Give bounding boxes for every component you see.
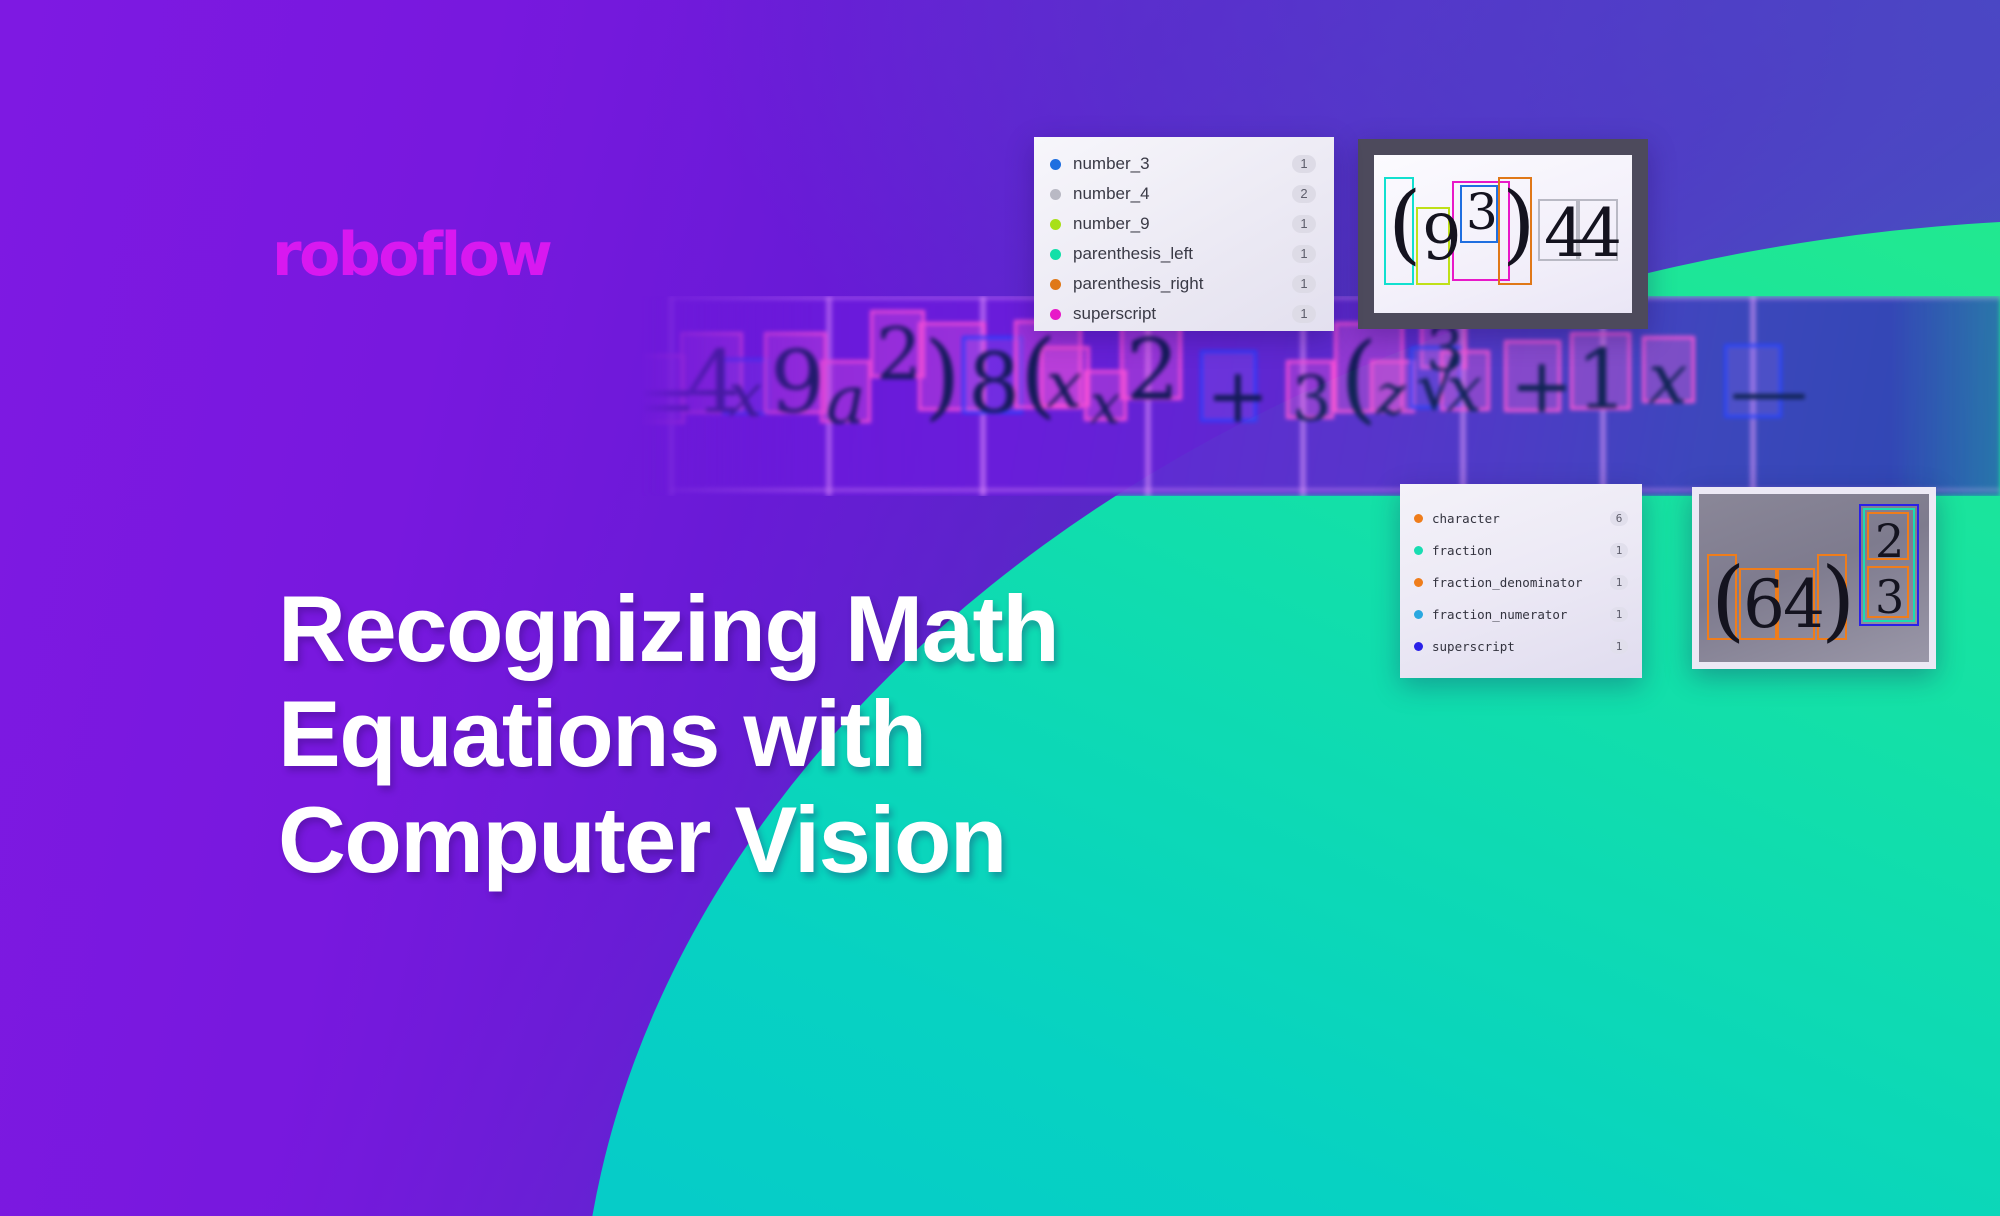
equation-band-glyph: 8 [968,344,1020,426]
equation-glyph: ( [1388,181,1422,267]
class-color-dot-icon [1050,219,1061,230]
equation-glyph: 6 [1743,572,1785,638]
equation-band-glyph: 1 [1576,340,1628,422]
class-color-dot-icon [1050,249,1061,260]
equation-band-glyph: 3 [1292,368,1331,430]
equation-glyph: 9 [1422,207,1461,269]
equation-band-glyph: + [1206,358,1270,434]
hero-banner: =4x9a2)8(xx2+3(z3√x+1x— roboflow Recogni… [0,0,2000,1216]
legend-row[interactable]: number_31 [1034,149,1334,179]
legend-row[interactable]: number_42 [1034,179,1334,209]
class-label: fraction_denominator [1432,575,1610,590]
roboflow-logo: roboflow [272,220,550,290]
equation-band-glyph: 2 [1126,328,1179,412]
class-count-badge: 1 [1292,275,1316,293]
class-label: parenthesis_right [1073,274,1292,294]
class-color-dot-icon [1050,189,1061,200]
class-color-dot-icon [1050,309,1061,320]
class-label: number_4 [1073,184,1292,204]
equation-band-glyph: x [1046,354,1082,418]
panel-1-rows: number_31number_42number_91parenthesis_l… [1034,149,1334,329]
panel-2-rows: character6fraction1fraction_denominator1… [1400,502,1642,662]
equation-band-glyph: 2 [876,318,922,390]
class-color-dot-icon [1414,514,1423,523]
equation-glyph: 2 [1875,518,1904,564]
legend-row[interactable]: parenthesis_right1 [1034,269,1334,299]
class-label: fraction [1432,543,1610,558]
equation-band-guide [670,296,2000,300]
class-label: parenthesis_left [1073,244,1292,264]
equation-band-glyph: x [1648,344,1687,414]
class-color-dot-icon [1414,546,1423,555]
class-color-dot-icon [1050,159,1061,170]
class-count-badge: 1 [1610,639,1628,654]
equation-band-glyph: x [728,366,762,426]
preview-canvas-2: (64)23 [1699,494,1929,662]
class-label: superscript [1073,304,1292,324]
legend-row[interactable]: character6 [1400,502,1642,534]
page-title-line-1: Recognizing Math [278,576,1298,681]
equation-glyph: ( [1711,556,1745,644]
legend-row[interactable]: number_91 [1034,209,1334,239]
class-count-badge: 1 [1610,543,1628,558]
equation-band-glyph: + [1510,348,1574,424]
preview-canvas-1: (93)44 [1374,155,1632,313]
class-count-badge: 1 [1610,575,1628,590]
equation-glyph: 4 [1783,572,1825,638]
class-color-dot-icon [1414,642,1423,651]
equation-band-glyph: — [1730,352,1808,430]
equation-glyph: 3 [1875,574,1904,620]
panel-predictions-characters[interactable]: number_31number_42number_91parenthesis_l… [1034,137,1334,331]
class-count-badge: 2 [1292,185,1316,203]
equation-glyph: ) [1502,181,1536,267]
class-color-dot-icon [1414,578,1423,587]
legend-row[interactable]: fraction_denominator1 [1400,566,1642,598]
equation-band-glyph: z [1376,368,1406,424]
page-title-line-2: Equations with [278,681,1298,786]
legend-row[interactable]: superscript1 [1400,630,1642,662]
page-title: Recognizing Math Equations with Computer… [278,576,1298,892]
equation-band-glyph: a [826,368,865,434]
legend-row[interactable]: superscript1 [1034,299,1334,329]
equation-band-glyph: x [1446,358,1482,422]
legend-row[interactable]: fraction1 [1400,534,1642,566]
class-color-dot-icon [1414,610,1423,619]
legend-row[interactable]: fraction_numerator1 [1400,598,1642,630]
class-count-badge: 1 [1292,155,1316,173]
class-count-badge: 1 [1292,215,1316,233]
class-count-badge: 1 [1292,245,1316,263]
class-label: character [1432,511,1610,526]
class-count-badge: 1 [1610,607,1628,622]
class-label: superscript [1432,639,1610,654]
class-color-dot-icon [1050,279,1061,290]
class-label: number_9 [1073,214,1292,234]
page-title-line-3: Computer Vision [278,787,1298,892]
equation-band-glyph: x [1090,378,1120,432]
preview-image-9cubed: (93)44 [1358,139,1648,329]
class-label: number_3 [1073,154,1292,174]
equation-band-glyph: ) [924,330,961,424]
equation-glyph: ) [1821,556,1855,644]
equation-band-glyph: ( [1340,330,1377,426]
class-count-badge: 6 [1610,511,1628,526]
equation-glyph: 3 [1466,187,1498,237]
class-count-badge: 1 [1292,305,1316,323]
legend-row[interactable]: parenthesis_left1 [1034,239,1334,269]
preview-image-64-two-thirds: (64)23 [1692,487,1936,669]
class-label: fraction_numerator [1432,607,1610,622]
equation-glyph: 4 [1580,201,1622,267]
panel-predictions-fractions[interactable]: character6fraction1fraction_denominator1… [1400,484,1642,678]
equation-band-glyph: 9 [770,340,825,426]
